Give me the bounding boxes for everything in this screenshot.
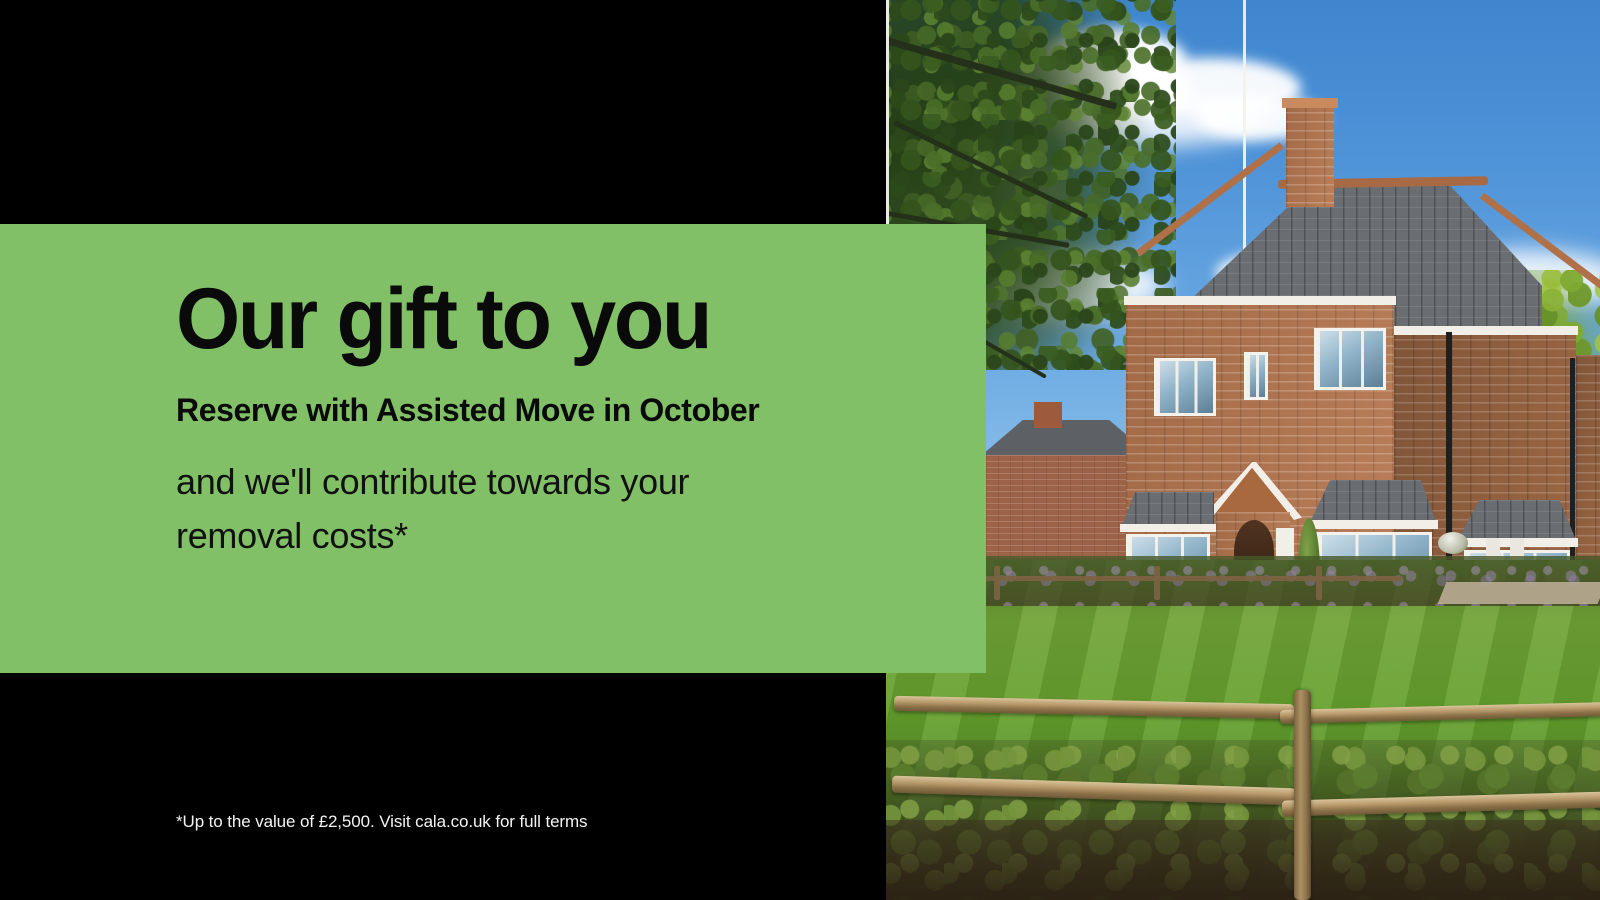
offer-body-line-2: removal costs* [176,515,408,556]
chimney-cap [1282,98,1338,108]
bay-canopy-roof [1310,480,1436,522]
offer-copy-block: Our gift to you Reserve with Assisted Mo… [176,224,976,563]
offer-body-line-1: and we'll contribute towards your [176,461,689,502]
eaves-fascia [1394,326,1578,335]
promotional-banner: Our gift to you Reserve with Assisted Mo… [0,0,1600,900]
eaves-fascia [1124,296,1396,305]
bare-soil [886,820,1600,900]
offer-subheading: Reserve with Assisted Move in October [176,362,976,429]
bay-canopy-trim [1120,524,1216,532]
property-photograph [886,0,1600,900]
terms-footnote: *Up to the value of £2,500. Visit cala.c… [176,812,587,832]
low-fence-post [1154,566,1160,600]
low-fence-post [1316,566,1322,600]
fence-post [1294,690,1311,900]
page-title: Our gift to you [176,224,944,362]
bay-canopy-trim [1308,520,1438,529]
bay-canopy-roof [1122,492,1214,526]
upstairs-window [1154,358,1216,416]
offer-body-copy: and we'll contribute towards your remova… [176,429,816,563]
low-fence-rail [982,576,1402,581]
neighbour-window [886,0,922,30]
upstairs-window-small [1244,352,1268,400]
hanging-basket [1438,532,1468,554]
driveway-path [1438,582,1600,604]
chimney [1286,103,1334,207]
low-fence-post [994,566,1000,600]
upstairs-window [1314,328,1386,390]
